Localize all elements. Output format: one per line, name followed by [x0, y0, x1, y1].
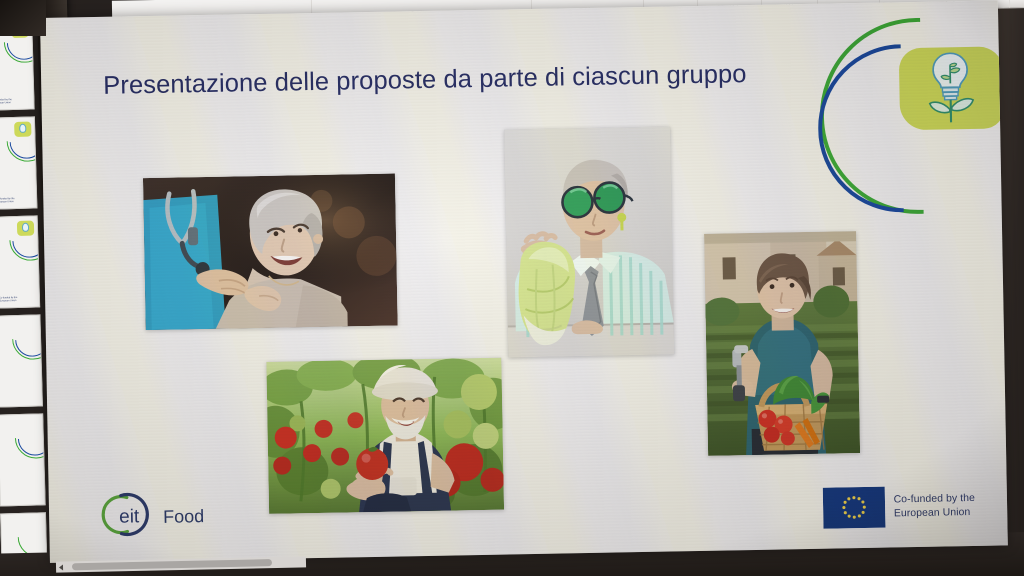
photographed-monitor-scene: Co-funded by the European Union Co-funde…	[0, 0, 1024, 576]
slide-thumbnail[interactable]: Co-funded by the European Union	[0, 215, 40, 308]
scrollbar-thumb[interactable]	[72, 559, 272, 570]
slide-thumbnail[interactable]	[0, 413, 46, 506]
slide-thumbnail[interactable]: Co-funded by the European Union	[0, 116, 38, 209]
lightbulb-plant-icon	[909, 47, 992, 126]
slide-title[interactable]: Presentazione delle proposte da parte di…	[103, 56, 804, 103]
slide-thumbnail[interactable]	[0, 314, 43, 407]
eit-food-logo: eit Food	[97, 487, 250, 540]
thumbnail-eu-caption: Co-funded by the European Union	[0, 197, 15, 205]
lightbulb-plant-icon	[19, 124, 26, 133]
eu-cofunding-badge: Co-funded by the European Union	[822, 485, 975, 529]
european-union-flag	[822, 487, 885, 529]
slide-decoration	[796, 16, 1008, 235]
photo-senior-woman-with-nurse[interactable]	[143, 174, 398, 331]
thumbnail-eu-caption: Co-funded by the European Union	[0, 98, 12, 106]
out-of-focus-corner	[0, 0, 46, 36]
eit-logo-word: Food	[163, 506, 204, 527]
eu-cofunding-text: Co-funded by the European Union	[894, 492, 976, 521]
powerpoint-slide[interactable]: Presentazione delle proposte da parte di…	[40, 0, 1008, 562]
thumbnail-eu-caption: Co-funded by the European Union	[0, 296, 17, 304]
photo-elderly-woman-with-cabbage[interactable]	[504, 126, 674, 357]
scroll-left-arrow-icon[interactable]	[59, 564, 63, 570]
lightbulb-plant-icon	[22, 223, 29, 232]
arc-green-icon	[17, 515, 48, 558]
eit-logo-text: eit	[119, 506, 140, 527]
photo-woman-with-dumbbell-and-vegetable-basket[interactable]	[704, 231, 860, 456]
photo-man-harvesting-tomatoes[interactable]	[266, 358, 504, 514]
